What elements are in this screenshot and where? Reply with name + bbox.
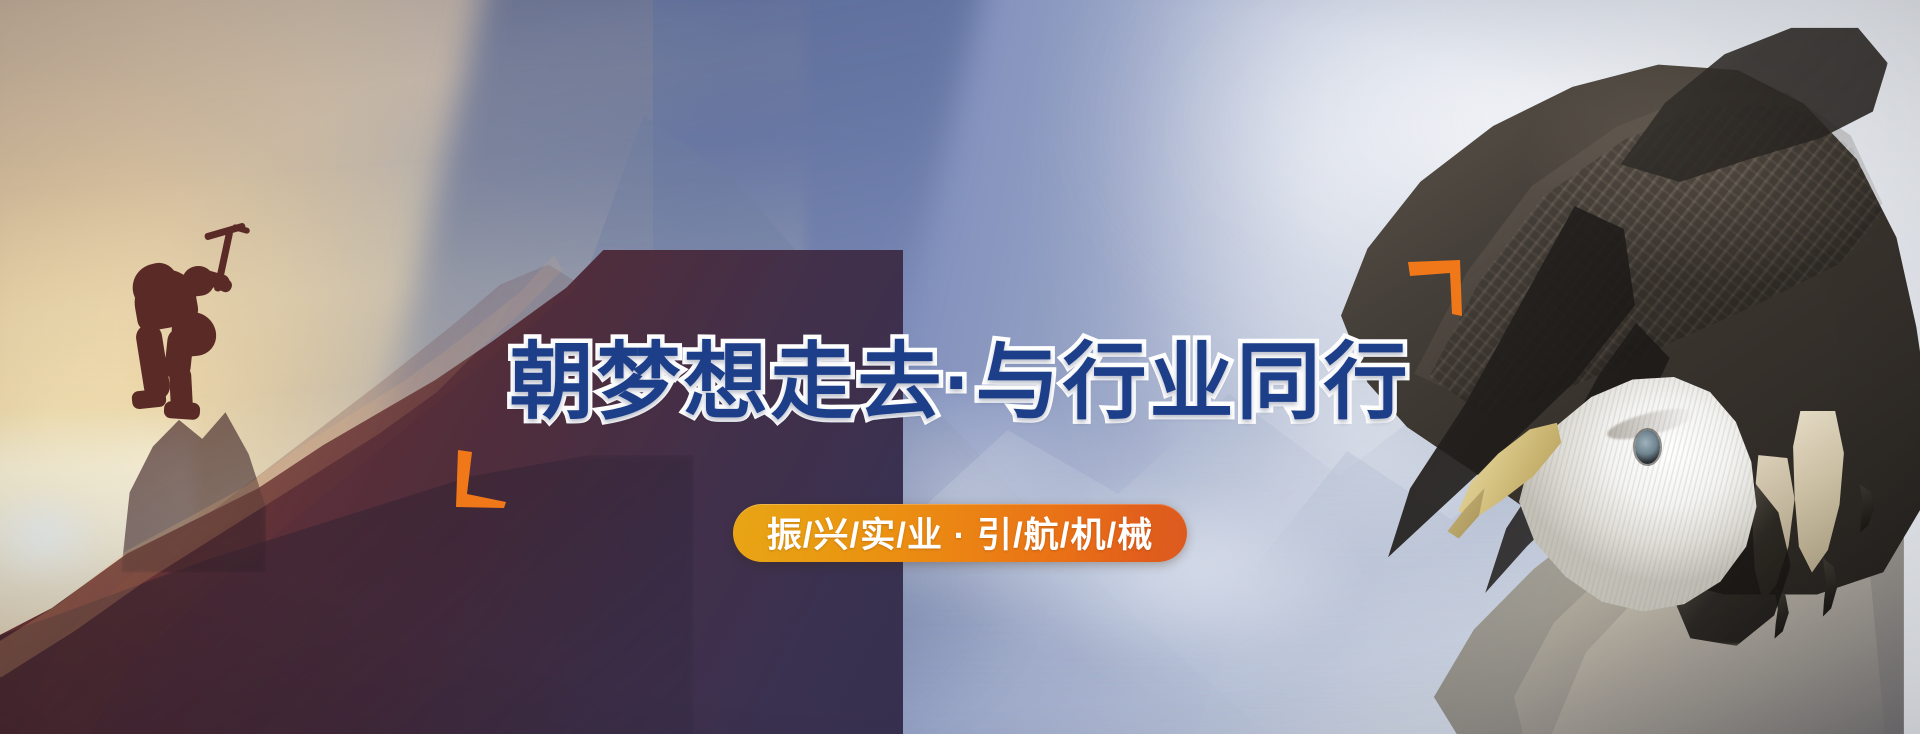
hero-banner: 朝梦想走去·与行业同行 振/兴/实/业 · 引/航/机/械 bbox=[0, 0, 1920, 734]
corner-bracket-bottom-left-icon bbox=[454, 450, 510, 508]
page-title: 朝梦想走去·与行业同行 bbox=[510, 338, 1411, 427]
ice-axe-adze bbox=[231, 223, 250, 234]
subtitle-badge: 振/兴/实/业 · 引/航/机/械 bbox=[733, 504, 1187, 562]
banner-text-block: 朝梦想走去·与行业同行 振/兴/实/业 · 引/航/机/械 bbox=[0, 282, 1920, 562]
subtitle-text: 振/兴/实/业 · 引/航/机/械 bbox=[767, 507, 1153, 558]
headline-row: 朝梦想走去·与行业同行 bbox=[470, 282, 1451, 484]
